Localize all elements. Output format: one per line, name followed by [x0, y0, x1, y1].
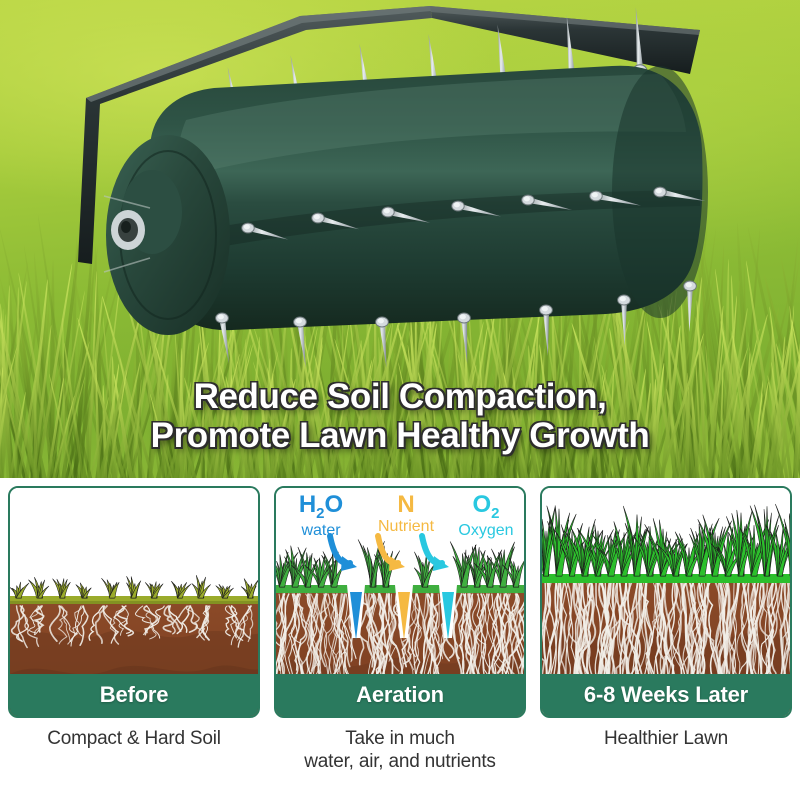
panel-after-label-bar: 6-8 Weeks Later: [542, 674, 790, 716]
lawn-aerator-roller: [0, 0, 800, 400]
panel-after-caption: Healthier Lawn: [604, 727, 728, 750]
nutrient-nitrogen-name: Nutrient: [362, 518, 450, 536]
nutrient-nitrogen-symbol: N: [362, 493, 450, 517]
comparison-panels: Before Compact & Hard Soil: [0, 486, 800, 800]
panel-after-card: 6-8 Weeks Later: [540, 486, 792, 718]
panel-before-label: Before: [100, 682, 169, 708]
panel-aeration: H2O water N Nutrient O2 Oxygen Aeration: [274, 486, 526, 800]
nutrient-water: H2O water: [282, 493, 360, 540]
nutrient-water-name: water: [282, 522, 360, 540]
panel-aeration-caption-line-1: Take in much: [304, 727, 495, 750]
panel-before-caption-text: Compact & Hard Soil: [47, 727, 221, 750]
panel-after: 6-8 Weeks Later Healthier Lawn: [540, 486, 792, 800]
panel-after-label: 6-8 Weeks Later: [584, 682, 748, 708]
panel-before-label-bar: Before: [10, 674, 258, 716]
product-infographic: Reduce Soil Compaction, Promote Lawn Hea…: [0, 0, 800, 800]
panel-aeration-caption-line-2: water, air, and nutrients: [304, 750, 495, 773]
panel-aeration-caption: Take in much water, air, and nutrients: [304, 727, 495, 773]
panel-aeration-label-bar: Aeration: [276, 674, 524, 716]
axle-hub: [111, 210, 145, 250]
hero-product-photo: Reduce Soil Compaction, Promote Lawn Hea…: [0, 0, 800, 478]
nutrient-water-symbol: H2O: [282, 493, 360, 521]
panel-before-caption: Compact & Hard Soil: [47, 727, 221, 750]
nutrient-labels: H2O water N Nutrient O2 Oxygen: [276, 493, 524, 551]
nutrient-nitrogen: N Nutrient: [362, 493, 450, 536]
roller-drum: [148, 66, 708, 330]
panel-aeration-card: H2O water N Nutrient O2 Oxygen Aeration: [274, 486, 526, 718]
panel-before-card: Before: [8, 486, 260, 718]
roller-end-cap: [104, 135, 230, 335]
nutrient-oxygen-name: Oxygen: [448, 522, 524, 540]
nutrient-oxygen: O2 Oxygen: [448, 493, 524, 540]
panel-before: Before Compact & Hard Soil: [8, 486, 260, 800]
panel-after-caption-text: Healthier Lawn: [604, 727, 728, 750]
panel-aeration-label: Aeration: [356, 682, 444, 708]
nutrient-oxygen-symbol: O2: [448, 493, 524, 521]
